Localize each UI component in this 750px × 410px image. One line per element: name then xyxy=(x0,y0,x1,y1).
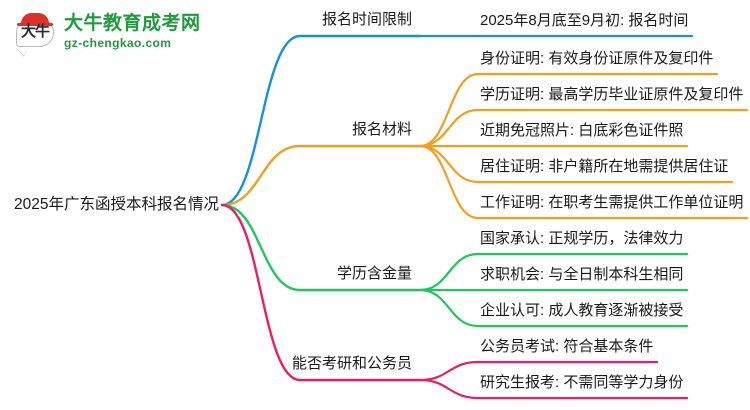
connector-curve xyxy=(420,380,478,398)
connector-curve xyxy=(420,362,478,380)
mindmap-leaf-node[interactable]: 求职机会: 与全日制本科生相同 xyxy=(480,266,683,284)
mindmap-leaf-node[interactable]: 2025年8月底至9月初: 报名时间 xyxy=(480,12,688,30)
mindmap-leaf-node[interactable]: 居住证明: 非户籍所在地需提供居住证 xyxy=(480,158,728,176)
connector-curve xyxy=(420,146,478,218)
connector-curve xyxy=(420,146,478,182)
connector-curve xyxy=(420,74,478,146)
mindmap-branch-label[interactable]: 报名材料 xyxy=(352,121,412,139)
mindmap-branch-label[interactable]: 学历含金量 xyxy=(337,265,412,283)
mindmap-leaf-node[interactable]: 研究生报考: 不需同等学力身份 xyxy=(480,374,683,392)
mindmap-leaf-node[interactable]: 公务员考试: 符合基本条件 xyxy=(480,338,653,356)
connector-curve xyxy=(420,290,478,326)
connector-curve xyxy=(420,110,478,146)
mindmap-branch-label[interactable]: 报名时间限制 xyxy=(322,11,412,29)
mindmap-leaf-node[interactable]: 近期免冠照片: 白底彩色证件照 xyxy=(480,122,683,140)
connector-curve xyxy=(222,205,420,380)
mindmap-root-node[interactable]: 2025年广东函授本科报名情况 xyxy=(14,196,219,214)
mindmap-leaf-node[interactable]: 工作证明: 在职考生需提供工作单位证明 xyxy=(480,194,743,212)
connector-curve xyxy=(420,254,478,290)
mindmap-leaf-node[interactable]: 身份证明: 有效身份证原件及复印件 xyxy=(480,50,713,68)
mindmap-leaf-node[interactable]: 企业认可: 成人教育逐渐被接受 xyxy=(480,302,683,320)
mindmap-leaf-node[interactable]: 学历证明: 最高学历毕业证原件及复印件 xyxy=(480,86,743,104)
mindmap-leaf-node[interactable]: 国家承认: 正规学历，法律效力 xyxy=(480,230,683,248)
mindmap-branch-label[interactable]: 能否考研和公务员 xyxy=(292,355,412,373)
